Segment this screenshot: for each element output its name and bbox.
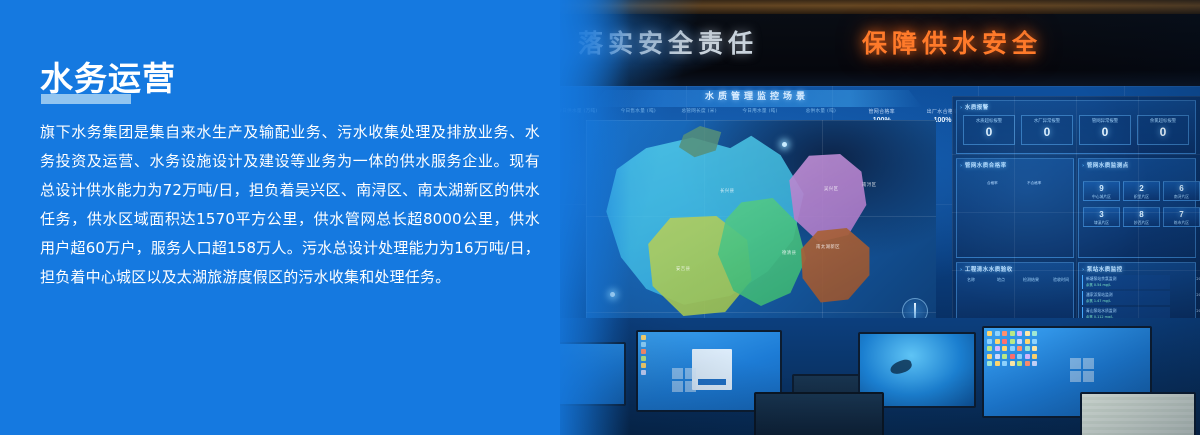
- station-name: 潘家浜泵站监测: [1086, 292, 1113, 298]
- rate-legend-fail: 不合格率: [1027, 181, 1041, 186]
- alarm-card-title: 水质报警: [960, 103, 989, 111]
- station-row: 新塘泵站余氯监测 余氯 0.54 mg/L 2022-11-9 18:23: [1082, 275, 1170, 289]
- map-label: 南太湖新区: [816, 244, 840, 250]
- zone-value: 3: [1084, 209, 1119, 220]
- station-name: 青山泵站水质监测: [1086, 308, 1116, 314]
- alarm-value: 0: [1138, 124, 1188, 140]
- zone-label: 中心城片区: [1084, 194, 1119, 200]
- station-reading: 余氯 0.54 mg/L: [1086, 282, 1111, 287]
- monitor-spreadsheet: [1080, 392, 1196, 435]
- acceptance-column-header: 地点: [997, 277, 1005, 283]
- rate-legend-pass: 合格率: [987, 181, 998, 186]
- dashboard-panel: 水质报警 水质超标报警 0 水厂异常报警 0 管网异常报警 0 余氯超标报警 0: [952, 96, 1200, 326]
- alarm-item: 管网异常报警 0: [1079, 115, 1131, 145]
- station-name: 新塘泵站余氯监测: [1086, 276, 1116, 282]
- rate-card-title: 管网水质合格率: [960, 161, 1007, 169]
- zone-label: 妙西片区: [1124, 220, 1159, 226]
- zone-cell: 8 妙西片区: [1123, 207, 1160, 227]
- map-label: 吴兴区: [824, 186, 838, 192]
- zone-label: 练市片区: [1164, 220, 1199, 226]
- map-marker: [610, 292, 615, 297]
- alarm-label: 水厂异常报警: [1022, 118, 1072, 124]
- login-button[interactable]: [698, 379, 727, 385]
- windows-logo-icon: [672, 368, 698, 394]
- desk-surface: [756, 394, 882, 435]
- alarm-label: 管网异常报警: [1080, 118, 1130, 124]
- alarm-card: 水质报警 水质超标报警 0 水厂异常报警 0 管网异常报警 0 余氯超标报警 0: [956, 100, 1196, 154]
- map-marker: [782, 142, 787, 147]
- station-row: 潘家浜泵站监测 余氯 1.47 mg/L 2022-11-9 18:23: [1082, 291, 1170, 305]
- zone-label: 南浔片区: [1164, 194, 1199, 200]
- zone-value: 7: [1164, 209, 1199, 220]
- zone-value: 9: [1084, 183, 1119, 194]
- acceptance-column-header: 名称: [967, 277, 975, 283]
- windows-logo-icon: [1070, 358, 1096, 384]
- diver-wallpaper: [888, 358, 913, 376]
- zone-cell: 3 埭溪片区: [1083, 207, 1120, 227]
- zone-label: 织里片区: [1124, 194, 1159, 200]
- water-operations-banner: 落实安全责任 保障供水安全 水质管理监控场景 今日供水量 (万吨) 今日售水量 …: [0, 0, 1200, 435]
- led-slogan-right: 保障供水安全: [862, 24, 1042, 60]
- map-label: 安吉县: [676, 266, 690, 272]
- station-reading: 余氯 1.47 mg/L: [1086, 298, 1111, 303]
- alarm-item: 水质超标报警 0: [963, 115, 1015, 145]
- map-label: 长兴县: [720, 188, 734, 194]
- operator-desks: [540, 318, 1200, 435]
- alarm-item: 水厂异常报警 0: [1021, 115, 1073, 145]
- acceptance-column-header: 检测结果: [1023, 277, 1039, 283]
- zone-value: 2: [1124, 183, 1159, 194]
- zone-card: 管网水质监测点 9 中心城片区 2 织里片区 6 南浔片区 3 埭溪片区: [1078, 158, 1196, 258]
- control-room-photo: 落实安全责任 保障供水安全 水质管理监控场景 今日供水量 (万吨) 今日售水量 …: [540, 0, 1200, 435]
- station-time: 2022-11-9 18:22: [1196, 308, 1200, 313]
- alarm-value: 0: [1080, 124, 1130, 140]
- station-time: 2022-11-9 18:23: [1196, 276, 1200, 281]
- desktop-icons: [987, 331, 1037, 366]
- station-card-title: 泵站水质监控: [1082, 265, 1123, 273]
- desktop-icons: [641, 335, 646, 375]
- station-card: 泵站水质监控 新塘泵站余氯监测 余氯 0.54 mg/L 2022-11-9 1…: [1078, 262, 1196, 322]
- zone-cell: 9 中心城片区: [1083, 181, 1120, 201]
- title-underline-rule: [41, 94, 131, 104]
- scene-title: 水质管理监控场景: [592, 89, 922, 102]
- zone-cell: 2 织里片区: [1123, 181, 1160, 201]
- acceptance-column-header: 验收时间: [1053, 277, 1069, 283]
- monitor-screen: [1082, 394, 1194, 435]
- station-time: 2022-11-9 18:23: [1196, 292, 1200, 297]
- kpi-label: 总供水量 (吨): [793, 108, 848, 114]
- body-paragraph: 旗下水务集团是集自来水生产及输配业务、污水收集处理及排放业务、水务投资及运营、水…: [40, 118, 540, 292]
- alarm-item: 余氯超标报警 0: [1137, 115, 1189, 145]
- kpi-label: 今日用水量 (吨): [733, 108, 788, 114]
- zone-cell: 7 练市片区: [1163, 207, 1200, 227]
- map-label: 德清县: [782, 250, 796, 256]
- district-map: 长兴县 安吉县 德清县 吴兴区 南浔区 南太湖新区: [586, 120, 936, 320]
- alarm-value: 0: [964, 124, 1014, 140]
- zone-card-title: 管网水质监测点: [1082, 161, 1129, 169]
- desk-panel: [754, 392, 884, 435]
- acceptance-card-title: 工程清水水质验收: [960, 265, 1013, 273]
- zone-label: 埭溪片区: [1084, 220, 1119, 226]
- alarm-label: 水质超标报警: [964, 118, 1014, 124]
- led-slogan-left: 落实安全责任: [578, 24, 758, 60]
- zone-value: 8: [1124, 209, 1159, 220]
- kpi-label: 今日售水量 (吨): [611, 108, 666, 114]
- acceptance-card: 工程清水水质验收 名称 地点 检测结果 验收时间: [956, 262, 1074, 322]
- map-label: 南浔区: [862, 182, 876, 188]
- kpi-label: 总管网长度 (米): [672, 108, 727, 114]
- alarm-label: 余氯超标报警: [1138, 118, 1188, 124]
- alarm-value: 0: [1022, 124, 1072, 140]
- zone-cell: 6 南浔片区: [1163, 181, 1200, 201]
- page-title: 水务运营: [40, 52, 176, 100]
- rate-card: 管网水质合格率 合格率 不合格率: [956, 158, 1074, 258]
- kpi-label: 管网合格率: [854, 108, 909, 115]
- zone-value: 6: [1164, 183, 1199, 194]
